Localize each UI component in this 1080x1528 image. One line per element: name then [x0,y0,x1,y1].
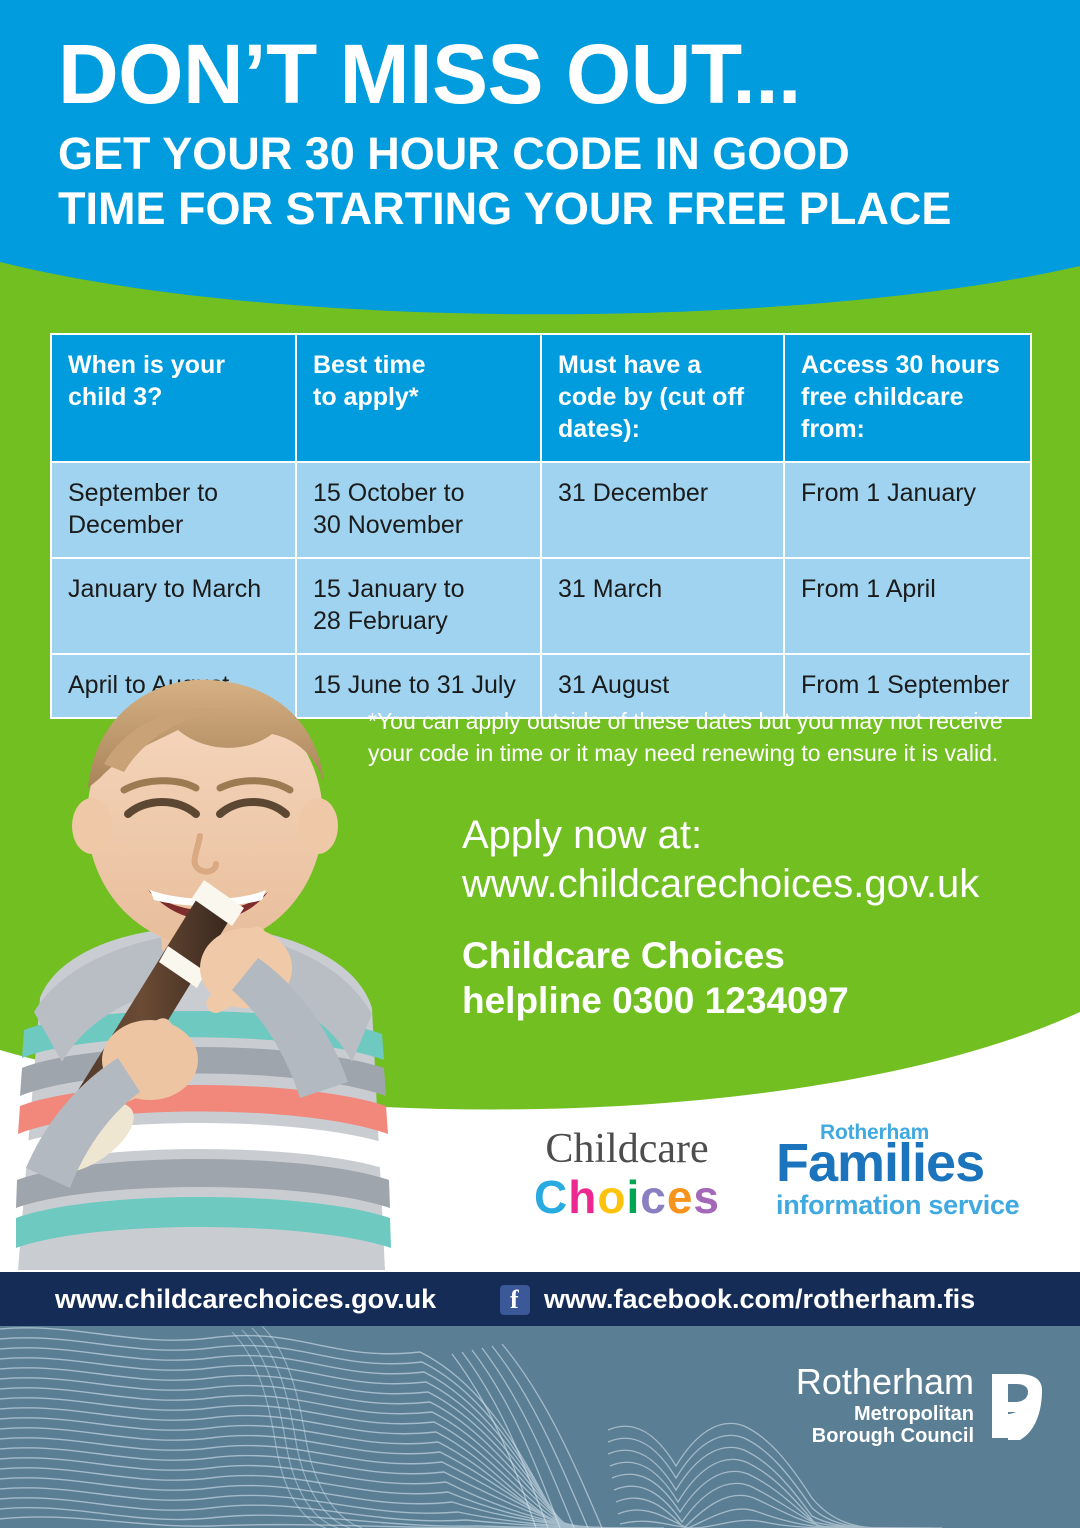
table-row: September to December 15 October to 30 N… [51,462,1031,558]
council-line-metropolitan: Metropolitan [796,1403,974,1425]
eligibility-table: When is your child 3? Best time to apply… [50,333,1032,719]
cell-when-0: September to December [51,462,296,558]
header-when-line-2: child 3? [68,381,281,413]
cell-when-1: January to March [51,558,296,654]
cc-letter-C: C [534,1174,568,1220]
header-best-line-2: to apply* [313,381,526,413]
cc-letter-c: c [640,1174,667,1220]
cell-best-0-line-2: 30 November [313,509,526,541]
headline-secondary-line-2: TIME FOR STARTING YOUR FREE PLACE [58,182,1038,237]
headline-block: DON’T MISS OUT... GET YOUR 30 HOUR CODE … [58,34,1038,236]
apply-website-link[interactable]: www.childcarechoices.gov.uk [462,861,1042,908]
council-line-rotherham: Rotherham [796,1364,974,1401]
rotherham-families-information-service-logo: Rotherham Families information service [776,1122,1046,1219]
footer-website-link[interactable]: www.childcarechoices.gov.uk [55,1284,436,1315]
cell-best-1-line-1: 15 January to [313,573,526,605]
table-header-cell-code-by: Must have a code by (cut off dates): [541,334,784,462]
header-code-line-3: dates): [558,413,769,445]
headline-secondary: GET YOUR 30 HOUR CODE IN GOOD TIME FOR S… [58,127,1038,237]
table-header-cell-access: Access 30 hours free childcare from: [784,334,1031,462]
cc-letter-s: s [693,1174,720,1220]
cell-best-0-line-1: 15 October to [313,477,526,509]
childcare-choices-word-choices: Choices [512,1174,742,1220]
helpline-block: Childcare Choices helpline 0300 1234097 [462,934,1042,1023]
table-header-cell-when: When is your child 3? [51,334,296,462]
helpline-line-1: Childcare Choices [462,934,1042,978]
header-access-line-2: free childcare [801,381,1016,413]
cell-code-0: 31 December [541,462,784,558]
header-code-line-1: Must have a [558,349,769,381]
cell-best-1: 15 January to 28 February [296,558,541,654]
fis-line-families: Families [776,1139,1046,1189]
childcare-choices-logo: Childcare Choices [512,1128,742,1220]
table-header-cell-best-time: Best time to apply* [296,334,541,462]
cell-code-1: 31 March [541,558,784,654]
cell-access-0: From 1 January [784,462,1031,558]
apply-call-to-action: Apply now at: www.childcarechoices.gov.u… [462,812,1042,1023]
poster-root: DON’T MISS OUT... GET YOUR 30 HOUR CODE … [0,0,1080,1528]
header-code-line-2: code by (cut off [558,381,769,413]
header-access-line-1: Access 30 hours [801,349,1016,381]
footnote-line-2: your code in time or it may need renewin… [368,738,1036,770]
table-footnote: *You can apply outside of these dates bu… [368,706,1036,769]
facebook-icon-glyph: f [510,1286,519,1313]
cc-letter-o: o [597,1174,626,1220]
cell-access-1: From 1 April [784,558,1031,654]
fis-line-information-service: information service [776,1192,1046,1219]
header-when-line-1: When is your [68,349,281,381]
cell-when-0-line-1: September to [68,477,281,509]
footnote-line-1: *You can apply outside of these dates bu… [368,706,1036,738]
cell-best-1-line-2: 28 February [313,605,526,637]
table-row: January to March 15 January to 28 Februa… [51,558,1031,654]
footer-facebook-link[interactable]: www.facebook.com/rotherham.fis [544,1284,975,1315]
apply-label: Apply now at: [462,812,1042,859]
facebook-icon[interactable]: f [500,1285,530,1315]
cc-letter-h: h [568,1174,597,1220]
child-playing-recorder-photo [0,668,400,1270]
cc-letter-e: e [667,1174,694,1220]
footer-url-bar: www.childcarechoices.gov.uk f www.facebo… [0,1272,1080,1326]
childcare-choices-word-childcare: Childcare [512,1128,742,1170]
headline-primary: DON’T MISS OUT... [58,34,1038,115]
logo-row: Childcare Choices Rotherham Families inf… [500,1128,1040,1246]
cell-best-0: 15 October to 30 November [296,462,541,558]
table-header-row: When is your child 3? Best time to apply… [51,334,1031,462]
headline-secondary-line-1: GET YOUR 30 HOUR CODE IN GOOD [58,127,1038,182]
council-r-mark-icon [986,1370,1044,1442]
rotherham-council-logo: Rotherham Metropolitan Borough Council [796,1364,1044,1448]
cc-letter-i: i [626,1174,640,1220]
header-access-line-3: from: [801,413,1016,445]
helpline-line-2: helpline 0300 1234097 [462,979,1042,1023]
cell-when-0-line-2: December [68,509,281,541]
header-best-line-1: Best time [313,349,526,381]
council-line-borough-council: Borough Council [796,1425,974,1447]
